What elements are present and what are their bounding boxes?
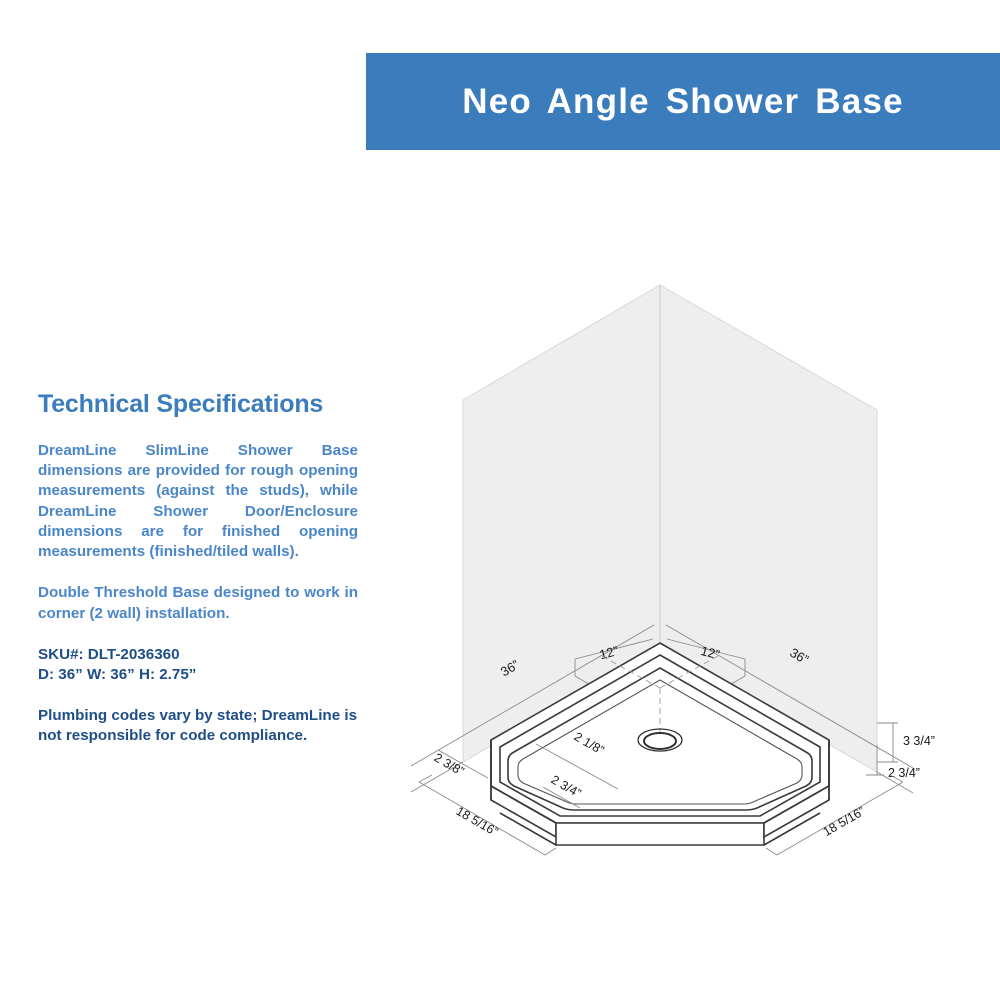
ext-line-left-front-b	[545, 848, 556, 855]
dim-label-left-front-width: 18 5/16”	[454, 804, 501, 839]
ext-line-right-front-b	[766, 848, 777, 855]
dim-label-left-threshold-height: 2 3/8”	[432, 750, 467, 778]
dim-label-right-overall-height: 3 3/4”	[903, 734, 935, 748]
shower-base-isometric-drawing: 36” 12” 12” 36”	[0, 0, 1000, 1000]
dim-label-right-threshold-height: 2 3/4”	[888, 766, 920, 780]
ext-line-left-threshold-top	[470, 768, 488, 778]
tray-front-face	[556, 823, 764, 845]
dim-label-right-front-width: 18 5/16”	[821, 804, 868, 839]
